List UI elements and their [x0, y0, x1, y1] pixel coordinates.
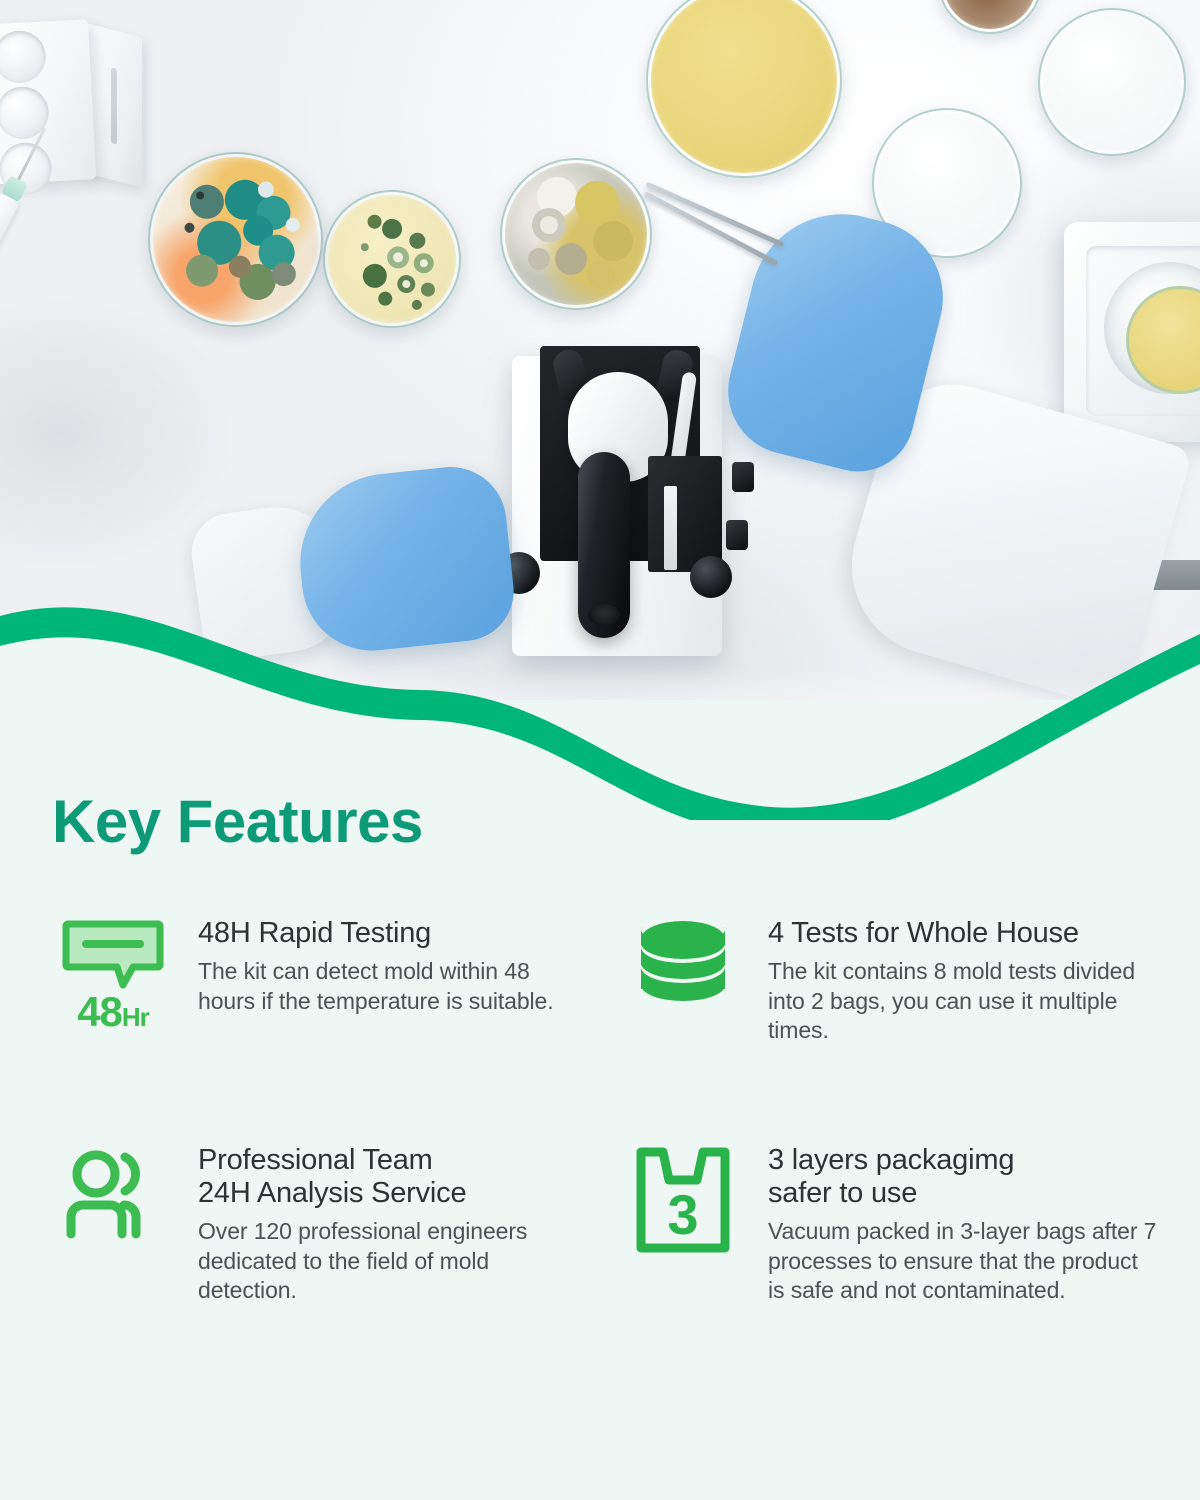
rack-groove: [111, 67, 117, 144]
microscope-stage: [648, 456, 722, 572]
shopping-bag-3-icon: 3: [633, 1146, 733, 1254]
page-title: Key Features: [52, 790, 1200, 853]
petri-dish-icon: [500, 158, 652, 310]
icon-unit: Hr: [122, 1002, 149, 1032]
feature-text: Professional Team 24H Analysis Service O…: [198, 1142, 608, 1306]
microscope-stage-lever: [726, 520, 748, 550]
feature-text: 48H Rapid Testing The kit can detect mol…: [198, 915, 608, 1016]
feature-description: The kit can detect mold within 48 hours …: [198, 957, 588, 1016]
test-tube-rack-icon: [0, 19, 96, 185]
feature-title-line-2: 24H Analysis Service: [198, 1177, 466, 1209]
feature-icon-wrap: 3: [618, 1142, 748, 1254]
microscope-stage-scale: [664, 486, 677, 570]
feature-text: 3 layers packagimg safer to use Vacuum p…: [768, 1142, 1178, 1306]
petri-dish-icon: [1038, 8, 1186, 156]
microscope-focus-knob: [690, 556, 732, 598]
speech-bubble-label: 48Hr: [77, 991, 149, 1033]
feature-icon-wrap: [48, 1142, 178, 1242]
stacked-disks-icon: [635, 919, 731, 1021]
microscope-stage-lever: [732, 462, 754, 492]
feature-item-three-layers: 3 3 layers packagimg safer to use Vacuum…: [618, 1142, 1178, 1306]
speech-bubble-48hr-icon: 48Hr: [61, 919, 165, 1033]
feature-description: Over 120 professional engineers dedicate…: [198, 1217, 588, 1305]
speech-bubble-icon: [61, 919, 165, 989]
rack-slot: [0, 30, 47, 85]
petri-dish-rim: [1038, 8, 1186, 156]
hero-bottom-fade: [0, 670, 1200, 700]
feature-title-line-1: Professional Team: [198, 1144, 433, 1176]
feature-description: Vacuum packed in 3-layer bags after 7 pr…: [768, 1217, 1158, 1305]
key-features-section: Key Features 48Hr 48H Ra: [0, 790, 1200, 1306]
feature-description: The kit contains 8 mold tests divided in…: [768, 957, 1158, 1045]
feature-icon-wrap: 48Hr: [48, 915, 178, 1033]
product-feature-page: Key Features 48Hr 48H Ra: [0, 0, 1200, 1500]
feature-title-line-2: safer to use: [768, 1177, 917, 1209]
feature-icon-wrap: [618, 915, 748, 1021]
feature-title: 48H Rapid Testing: [198, 917, 608, 950]
feature-title: 4 Tests for Whole House: [768, 917, 1178, 950]
bag-number: 3: [667, 1183, 698, 1246]
hero-lab-photo: [0, 0, 1200, 700]
feature-text: 4 Tests for Whole House The kit contains…: [768, 915, 1178, 1046]
feature-title: 3 layers packagimg safer to use: [768, 1144, 1178, 1211]
icon-number: 48: [77, 988, 122, 1035]
two-people-icon: [63, 1146, 163, 1242]
microscope-tube: [578, 452, 630, 638]
feature-item-four-tests: 4 Tests for Whole House The kit contains…: [618, 915, 1178, 1046]
feature-title-line-1: 3 layers packagimg: [768, 1144, 1014, 1176]
feature-item-rapid-testing: 48Hr 48H Rapid Testing The kit can detec…: [48, 915, 608, 1046]
features-grid: 48Hr 48H Rapid Testing The kit can detec…: [0, 915, 1200, 1306]
feature-title: Professional Team 24H Analysis Service: [198, 1144, 608, 1211]
petri-dish-rim: [500, 158, 652, 310]
feature-item-professional-team: Professional Team 24H Analysis Service O…: [48, 1142, 608, 1306]
